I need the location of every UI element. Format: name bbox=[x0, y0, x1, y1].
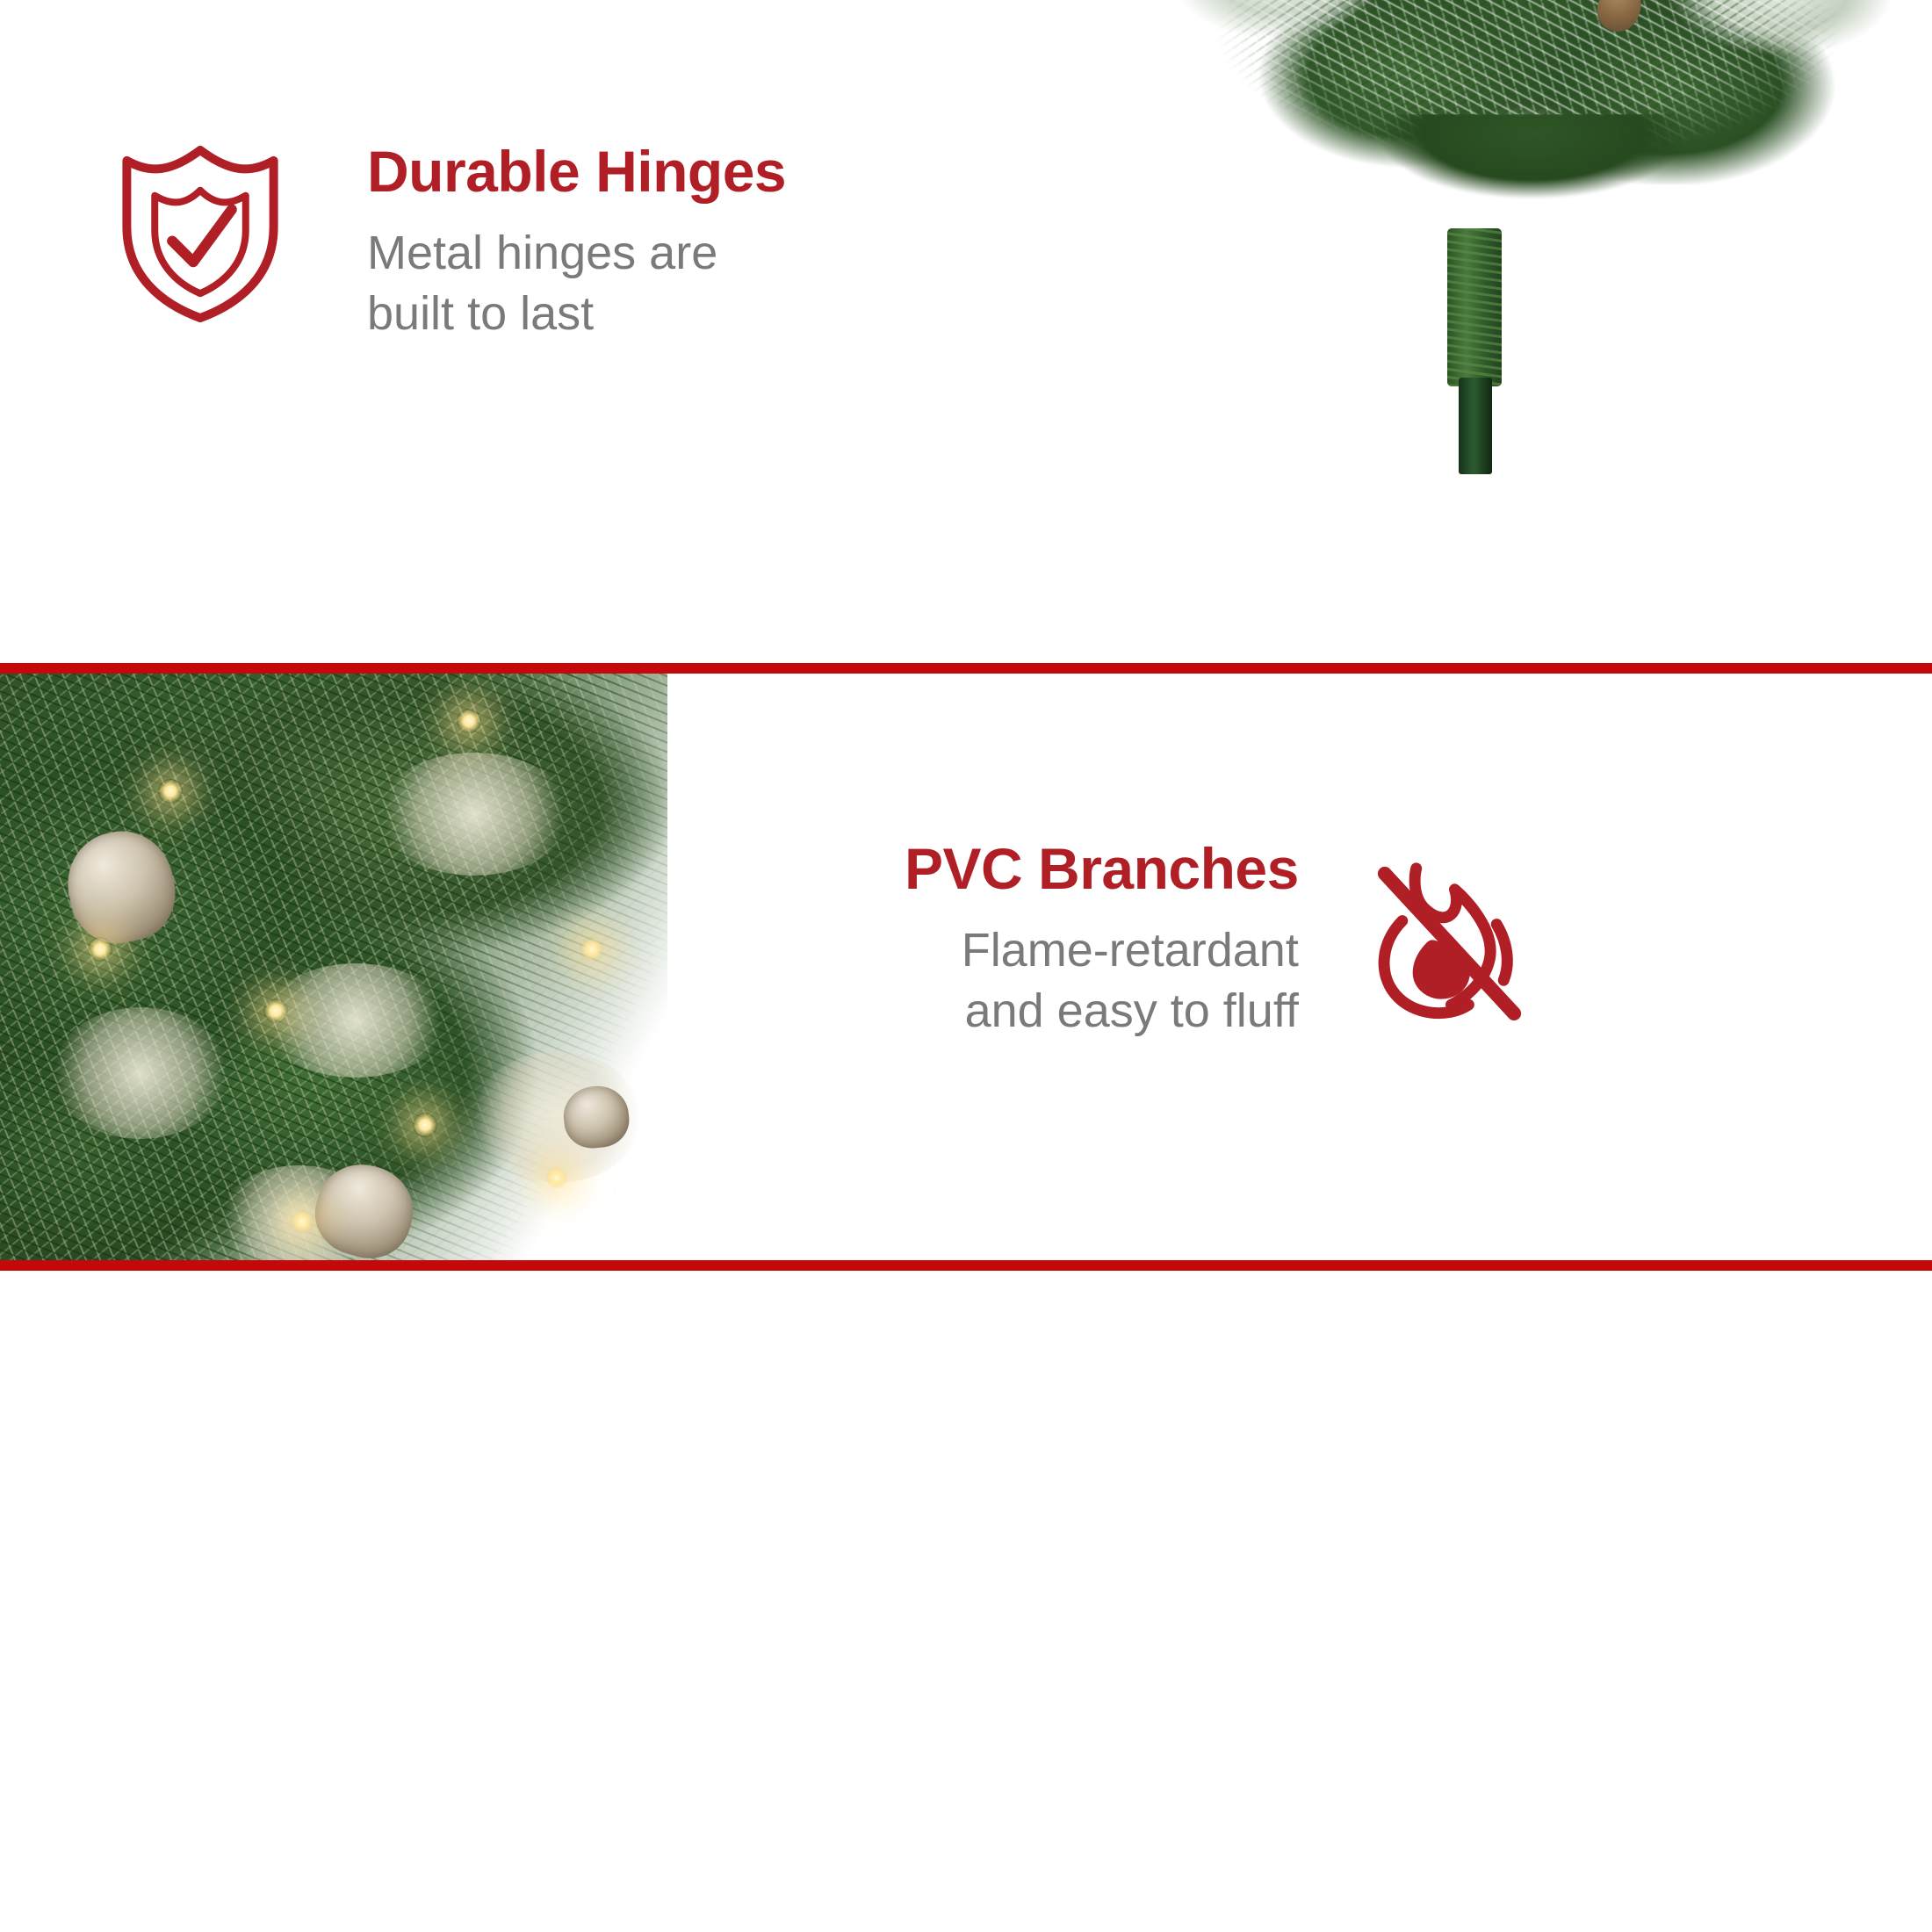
tree-lower-branches bbox=[1335, 114, 1730, 299]
panel-divider-1 bbox=[0, 663, 1932, 674]
feature-hinges-text: Durable Hinges Metal hinges are built to… bbox=[367, 141, 786, 345]
tree-light bbox=[457, 709, 481, 733]
panel-divider-2 bbox=[0, 1260, 1932, 1271]
no-flame-icon bbox=[1364, 847, 1535, 1027]
feature-branches-text: PVC Branches Flame-retardant and easy to… bbox=[905, 839, 1299, 1042]
feature-hinges-title: Durable Hinges bbox=[367, 141, 786, 202]
feature-branches-title: PVC Branches bbox=[905, 839, 1299, 899]
lit-frosted-tree-branches-photo bbox=[0, 674, 667, 1260]
tree-pole-wrapped-section bbox=[1447, 228, 1502, 386]
flocked-christmas-tree-base-photo bbox=[1071, 0, 1932, 509]
feature-branches-description: Flame-retardant and easy to fluff bbox=[962, 920, 1299, 1042]
feature-panel-base: Sturdy Base A reliable stand for your tr… bbox=[0, 1271, 1932, 1932]
feature-hinges: Durable Hinges Metal hinges are built to… bbox=[112, 136, 786, 345]
feature-panel-hinges: Durable Hinges Metal hinges are built to… bbox=[0, 0, 1932, 663]
tree-light bbox=[580, 937, 604, 962]
tree-pole-metal-tip bbox=[1459, 378, 1492, 474]
tree-light bbox=[544, 1165, 569, 1190]
frosted-tip-cluster bbox=[53, 1007, 228, 1139]
product-feature-infographic: Durable Hinges Metal hinges are built to… bbox=[0, 0, 1932, 1932]
tree-light bbox=[290, 1209, 314, 1234]
tree-light bbox=[88, 937, 112, 962]
tree-light bbox=[413, 1113, 437, 1137]
tree-light bbox=[158, 779, 183, 804]
frosted-tip-cluster bbox=[263, 963, 448, 1078]
tree-light bbox=[263, 998, 288, 1023]
shield-check-icon bbox=[112, 136, 288, 325]
feature-branches: PVC Branches Flame-retardant and easy to… bbox=[905, 839, 1535, 1042]
feature-hinges-description: Metal hinges are built to last bbox=[367, 223, 786, 344]
frosted-tip-cluster bbox=[378, 753, 571, 876]
